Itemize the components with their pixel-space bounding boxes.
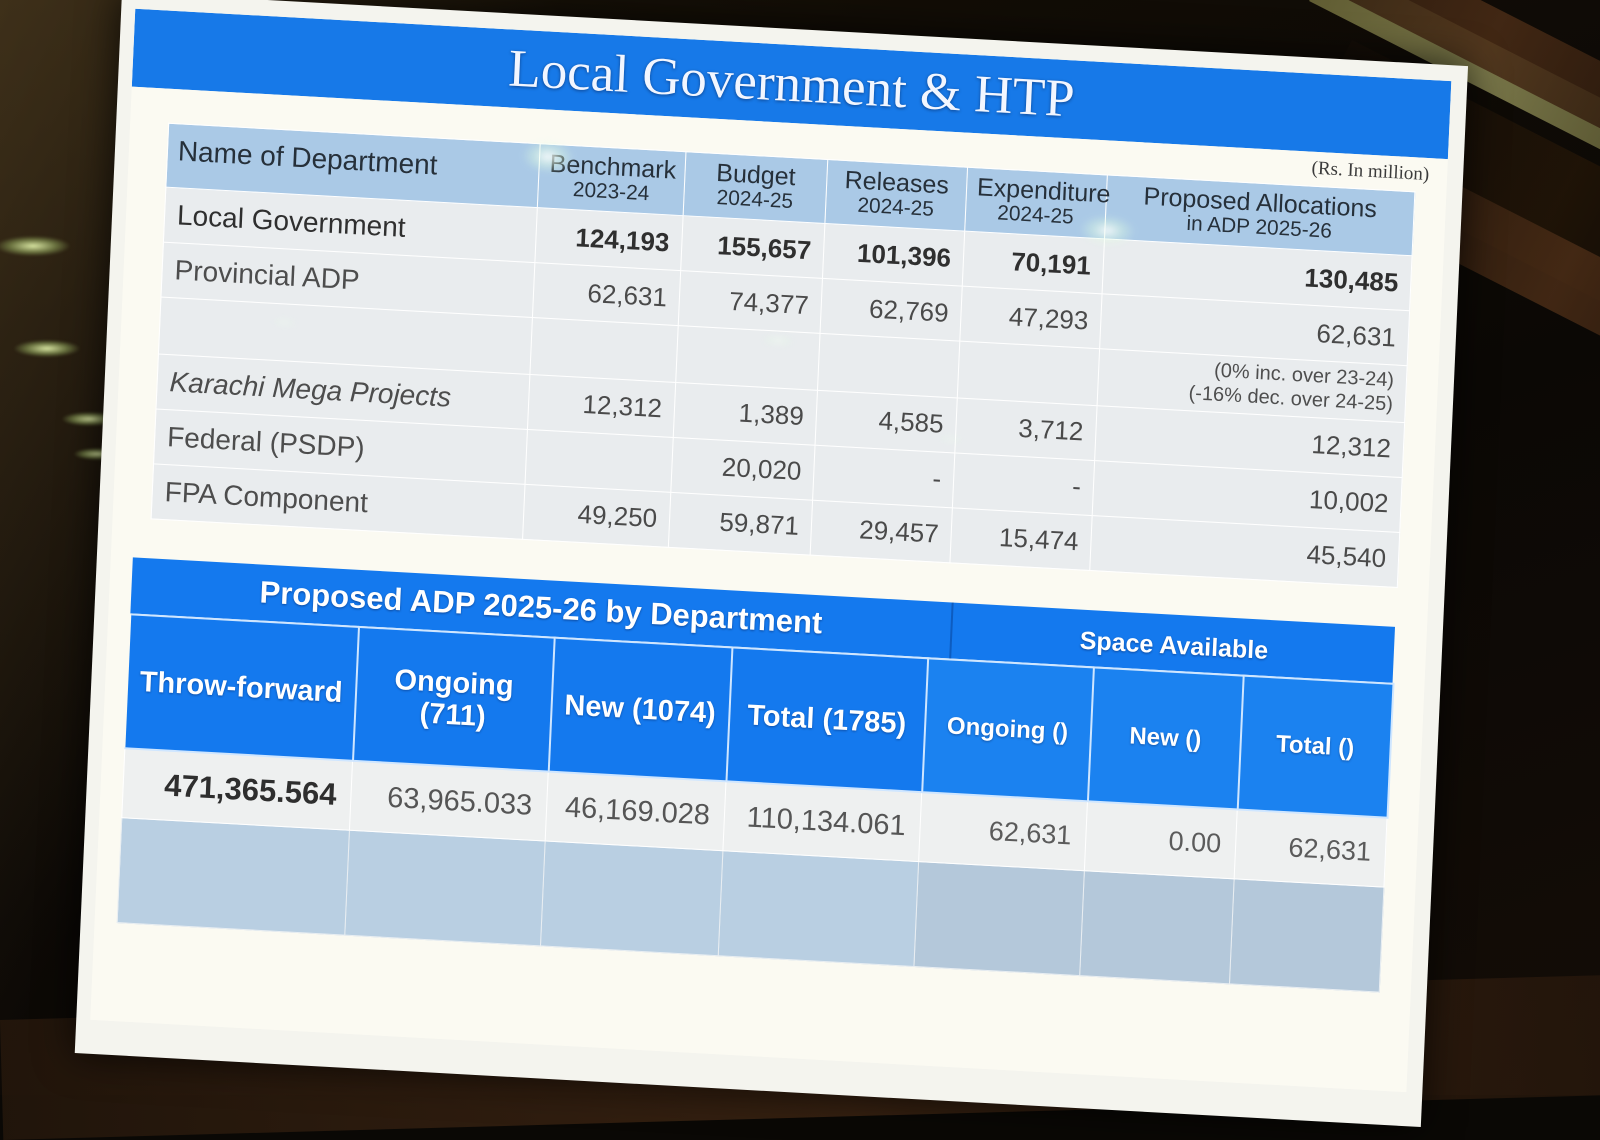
- cell-benchmark: 12,312: [527, 374, 675, 437]
- cell-total: 110,134.061: [723, 781, 922, 861]
- cell-releases: 62,769: [820, 279, 962, 342]
- cell-empty: [117, 818, 349, 935]
- col-header-ongoing: Ongoing (711): [353, 627, 555, 772]
- cell-budget: [676, 326, 820, 390]
- cell-empty: [718, 851, 918, 967]
- cell-ongoing: 63,965.033: [349, 761, 548, 841]
- cell-new: 46,169.028: [545, 772, 726, 851]
- department-budget-table: Name of Department Benchmark 2023-24 Bud…: [151, 123, 1416, 588]
- col-header-space-total: Total (): [1237, 676, 1393, 818]
- cell-releases: 101,396: [822, 224, 964, 287]
- cell-space-total: 62,631: [1234, 809, 1387, 887]
- cell-releases: -: [813, 445, 955, 508]
- cell-empty: [1080, 871, 1234, 984]
- cell-expenditure: 3,712: [955, 398, 1097, 461]
- cell-expenditure: 15,474: [950, 508, 1092, 571]
- col-header-releases: Releases 2024-25: [825, 160, 968, 232]
- cell-benchmark: [525, 429, 673, 492]
- col-header-new: New (1074): [548, 638, 732, 782]
- projection-screen-area: Local Government & HTP (Rs. In million) …: [0, 0, 1600, 1095]
- cell-budget: 74,377: [678, 271, 822, 334]
- cell-releases: 4,585: [815, 390, 957, 453]
- cell-budget: 59,871: [668, 492, 812, 555]
- cell-benchmark: 49,250: [523, 484, 671, 547]
- cell-expenditure: 70,191: [962, 232, 1104, 295]
- col-header-space-new: New (): [1087, 667, 1243, 809]
- cell-space-new: 0.00: [1084, 801, 1237, 879]
- col-header-space-ongoing: Ongoing (): [922, 658, 1094, 801]
- cell-expenditure: -: [952, 453, 1094, 516]
- cell-empty: [540, 841, 722, 956]
- cell-expenditure: 47,293: [960, 287, 1102, 350]
- cell-throwforward: 471,365.564: [122, 748, 353, 830]
- cell-space-ongoing: 62,631: [919, 792, 1088, 871]
- cell-benchmark: 62,631: [532, 263, 680, 326]
- col-header-budget: Budget 2024-25: [683, 152, 828, 224]
- cell-benchmark: [530, 318, 678, 382]
- cell-expenditure: [957, 342, 1099, 406]
- cell-budget: 155,657: [681, 216, 825, 279]
- cell-budget: 20,020: [671, 437, 815, 500]
- projection-screen: Local Government & HTP (Rs. In million) …: [75, 0, 1468, 1127]
- col-header-throwforward: Throw-forward: [125, 614, 359, 760]
- cell-empty: [1229, 879, 1383, 992]
- cell-releases: [817, 334, 959, 398]
- col-header-benchmark: Benchmark 2023-24: [537, 144, 686, 216]
- cell-empty: [914, 862, 1084, 976]
- presentation-slide: Local Government & HTP (Rs. In million) …: [90, 9, 1451, 1092]
- cell-budget: 1,389: [673, 382, 817, 445]
- col-header-expenditure: Expenditure 2024-25: [965, 167, 1108, 239]
- cell-releases: 29,457: [810, 500, 952, 563]
- col-header-budget-year: 2024-25: [694, 186, 816, 215]
- cell-benchmark: 124,193: [535, 208, 683, 271]
- col-header-total: Total (1785): [726, 647, 928, 792]
- cell-empty: [345, 830, 545, 946]
